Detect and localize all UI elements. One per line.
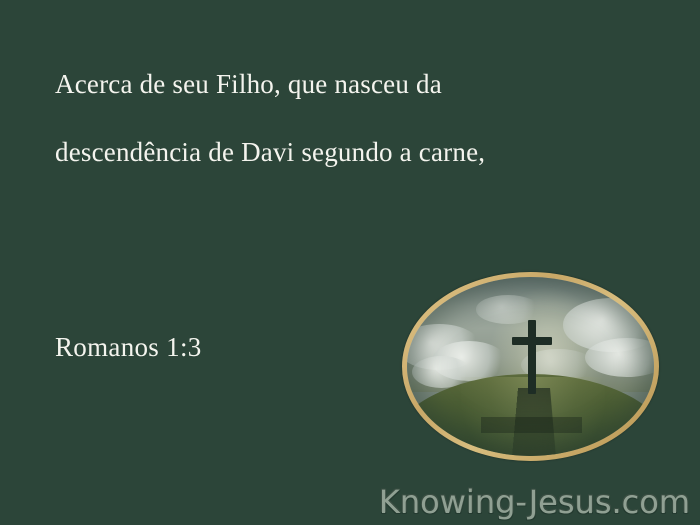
oval-photo-frame [402, 272, 659, 461]
scripture-image-card: Acerca de seu Filho, que nasceu da desce… [0, 0, 700, 525]
site-watermark: Knowing-Jesus.com [379, 483, 690, 521]
oval-photo-clip [407, 277, 654, 456]
verse-text-block: Acerca de seu Filho, que nasceu da desce… [55, 50, 655, 186]
photo-vignette [407, 277, 654, 456]
scripture-reference: Romanos 1:3 [55, 332, 202, 363]
verse-line-1: Acerca de seu Filho, que nasceu da [55, 50, 655, 118]
verse-line-2: descendência de Davi segundo a carne, [55, 118, 655, 186]
